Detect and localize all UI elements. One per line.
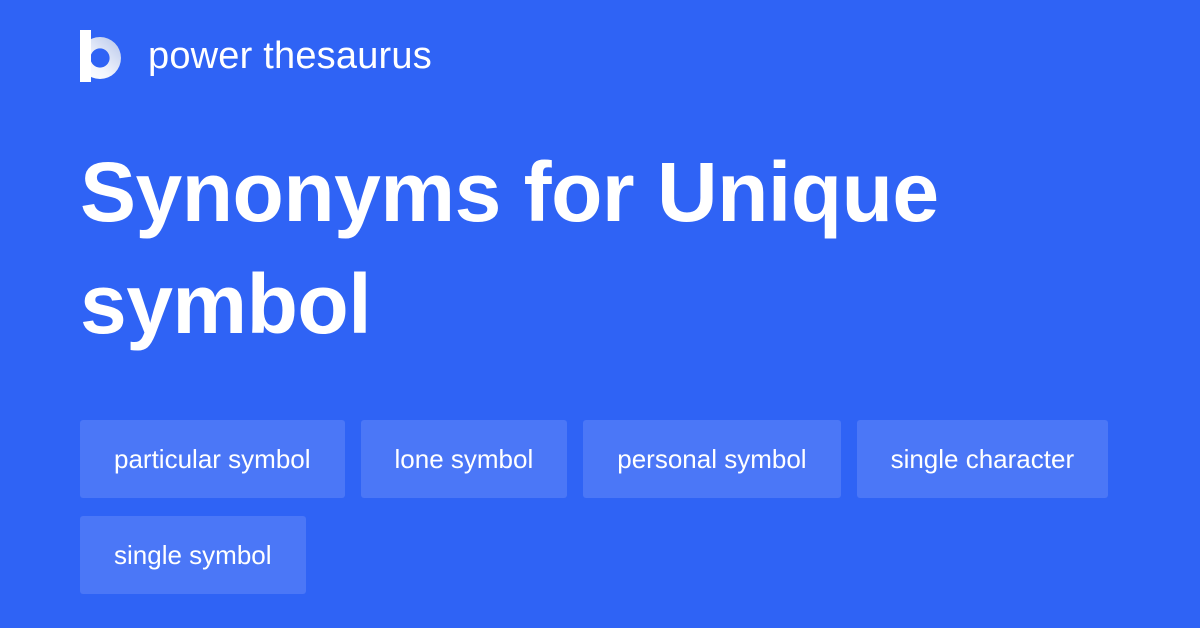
synonym-chip[interactable]: personal symbol	[583, 420, 840, 498]
synonym-chip[interactable]: particular symbol	[80, 420, 345, 498]
brand-header[interactable]: power thesaurus	[80, 28, 432, 84]
synonym-chip-list: particular symbol lone symbol personal s…	[80, 420, 1120, 594]
synonym-chip[interactable]: single character	[857, 420, 1109, 498]
page-title: Synonyms for Unique symbol	[80, 136, 1040, 360]
synonym-chip[interactable]: lone symbol	[361, 420, 568, 498]
power-thesaurus-logo-icon	[80, 30, 126, 82]
brand-name: power thesaurus	[148, 34, 432, 78]
synonym-chip[interactable]: single symbol	[80, 516, 306, 594]
og-card: power thesaurus Synonyms for Unique symb…	[0, 0, 1200, 628]
